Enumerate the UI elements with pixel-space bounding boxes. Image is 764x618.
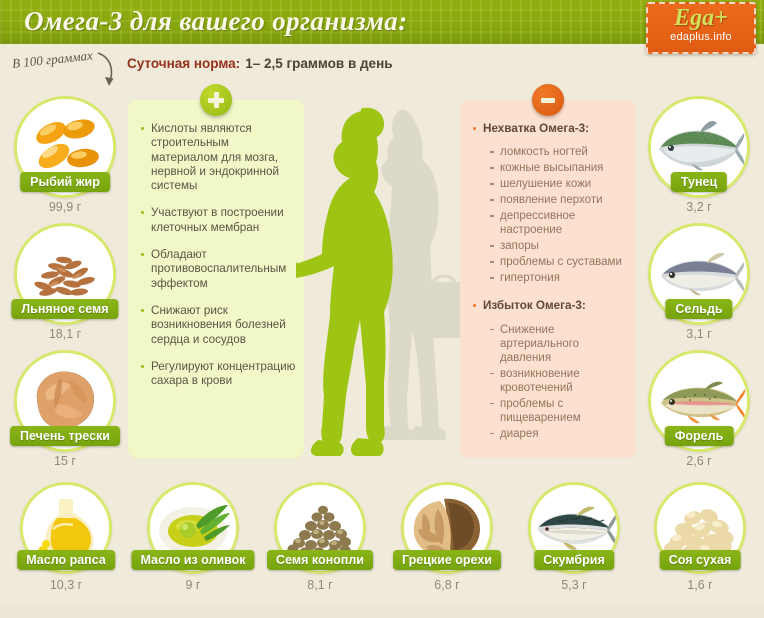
benefit-item: Регулируют концентрацию сахара в крови: [140, 360, 296, 389]
food-grams: 6,8 г: [383, 578, 511, 592]
food-grams: 3,1 г: [634, 327, 764, 341]
food-grams: 99,9 г: [0, 200, 130, 214]
symptom-item: кожные высыпания: [490, 161, 628, 175]
food-grams: 15 г: [0, 454, 130, 468]
page-title: Омега-3 для вашего организма:: [24, 6, 408, 37]
infographic-page: Омега-3 для вашего организма: Ega+ edapl…: [0, 0, 764, 618]
daily-norm-label: Суточная норма:: [127, 56, 240, 71]
benefits-list: Кислоты являются строительным материалом…: [140, 122, 296, 401]
left-food-column: Рыбий жир 99,9 г: [0, 96, 130, 474]
food-label: Соя сухая: [660, 550, 741, 570]
food-label: Сельдь: [665, 299, 732, 319]
food-grams: 3,2 г: [634, 200, 764, 214]
food-grams: 8,1 г: [256, 578, 384, 592]
food-item[interactable]: Форель 2,6 г: [634, 350, 764, 474]
symptom-item: депрессивное настроение: [490, 209, 628, 237]
food-grams: 10,3 г: [2, 578, 130, 592]
footer-strip: [0, 604, 764, 618]
logo-wordmark: Ega+: [648, 5, 754, 31]
food-item[interactable]: Печень трески 15 г: [0, 350, 130, 474]
food-grams: 1,6 г: [636, 578, 764, 592]
benefit-item: Обладают противовоспалительным эффектом: [140, 248, 296, 291]
bottom-food-row: Масло рапса 10,3 г Масло из оливок 9 г: [0, 482, 764, 600]
food-grams: 9 г: [129, 578, 257, 592]
symptom-item: Снижение артериального давления: [490, 323, 628, 365]
woman-silhouette: [296, 108, 393, 456]
benefit-item: Кислоты являются строительным материалом…: [140, 122, 296, 193]
food-grams: 5,3 г: [510, 578, 638, 592]
symptom-item: ломкость ногтей: [490, 145, 628, 159]
site-logo[interactable]: Ega+ edaplus.info: [646, 2, 756, 54]
food-label: Печень трески: [10, 426, 120, 446]
symptom-item: появление перхоти: [490, 193, 628, 207]
food-label: Льняное семя: [11, 299, 118, 319]
symptom-item: проблемы с суставами: [490, 255, 628, 269]
per-100-grams-note: В 100 граммах: [12, 47, 107, 71]
food-label: Скумбрия: [534, 550, 614, 570]
logo-domain: edaplus.info: [648, 31, 754, 44]
curved-arrow-icon: [94, 50, 120, 92]
food-label: Рыбий жир: [20, 172, 110, 192]
plus-badge-icon: [200, 84, 232, 116]
food-item[interactable]: Сельдь 3,1 г: [634, 223, 764, 347]
food-label: Масло рапса: [17, 550, 115, 570]
deficiency-symptoms: ломкость ногтей кожные высыпания шелушен…: [490, 145, 628, 285]
food-label: Семя конопли: [267, 550, 373, 570]
excess-title: Избыток Омега-3:: [472, 299, 628, 313]
risks-list: Нехватка Омега-3: ломкость ногтей кожные…: [472, 122, 628, 455]
food-item[interactable]: Льняное семя 18,1 г: [0, 223, 130, 347]
food-label: Грецкие орехи: [393, 550, 501, 570]
deficiency-title: Нехватка Омега-3:: [472, 122, 628, 136]
food-grams: 2,6 г: [634, 454, 764, 468]
daily-norm-value: 1– 2,5 граммов в день: [245, 56, 392, 71]
food-label: Форель: [665, 426, 734, 446]
daily-norm: Суточная норма:1– 2,5 граммов в день: [127, 56, 393, 71]
page-header: Омега-3 для вашего организма: Ega+ edapl…: [0, 0, 764, 44]
people-silhouette-illustration: [296, 96, 474, 462]
minus-badge-icon: [532, 84, 564, 116]
symptom-item: запоры: [490, 239, 628, 253]
food-label: Масло из оливок: [131, 550, 254, 570]
food-label: Тунец: [671, 172, 727, 192]
benefit-item: Участвуют в построении клеточных мембран: [140, 206, 296, 235]
symptom-item: шелушение кожи: [490, 177, 628, 191]
symptom-item: возникновение кровотечений: [490, 367, 628, 395]
risks-panel: Нехватка Омега-3: ломкость ногтей кожные…: [460, 100, 636, 458]
food-item[interactable]: Тунец 3,2 г: [634, 96, 764, 220]
excess-symptoms: Снижение артериального давления возникно…: [490, 323, 628, 441]
symptom-item: проблемы с пищеварением: [490, 397, 628, 425]
food-grams: 18,1 г: [0, 327, 130, 341]
symptom-item: гипертония: [490, 271, 628, 285]
food-item[interactable]: Рыбий жир 99,9 г: [0, 96, 130, 220]
benefits-panel: Кислоты являются строительным материалом…: [128, 100, 304, 458]
benefit-item: Снижают риск возникновения болезней серд…: [140, 304, 296, 347]
symptom-item: диарея: [490, 427, 628, 441]
right-food-column: Тунец 3,2 г Сельдь 3,1 г: [634, 96, 764, 474]
